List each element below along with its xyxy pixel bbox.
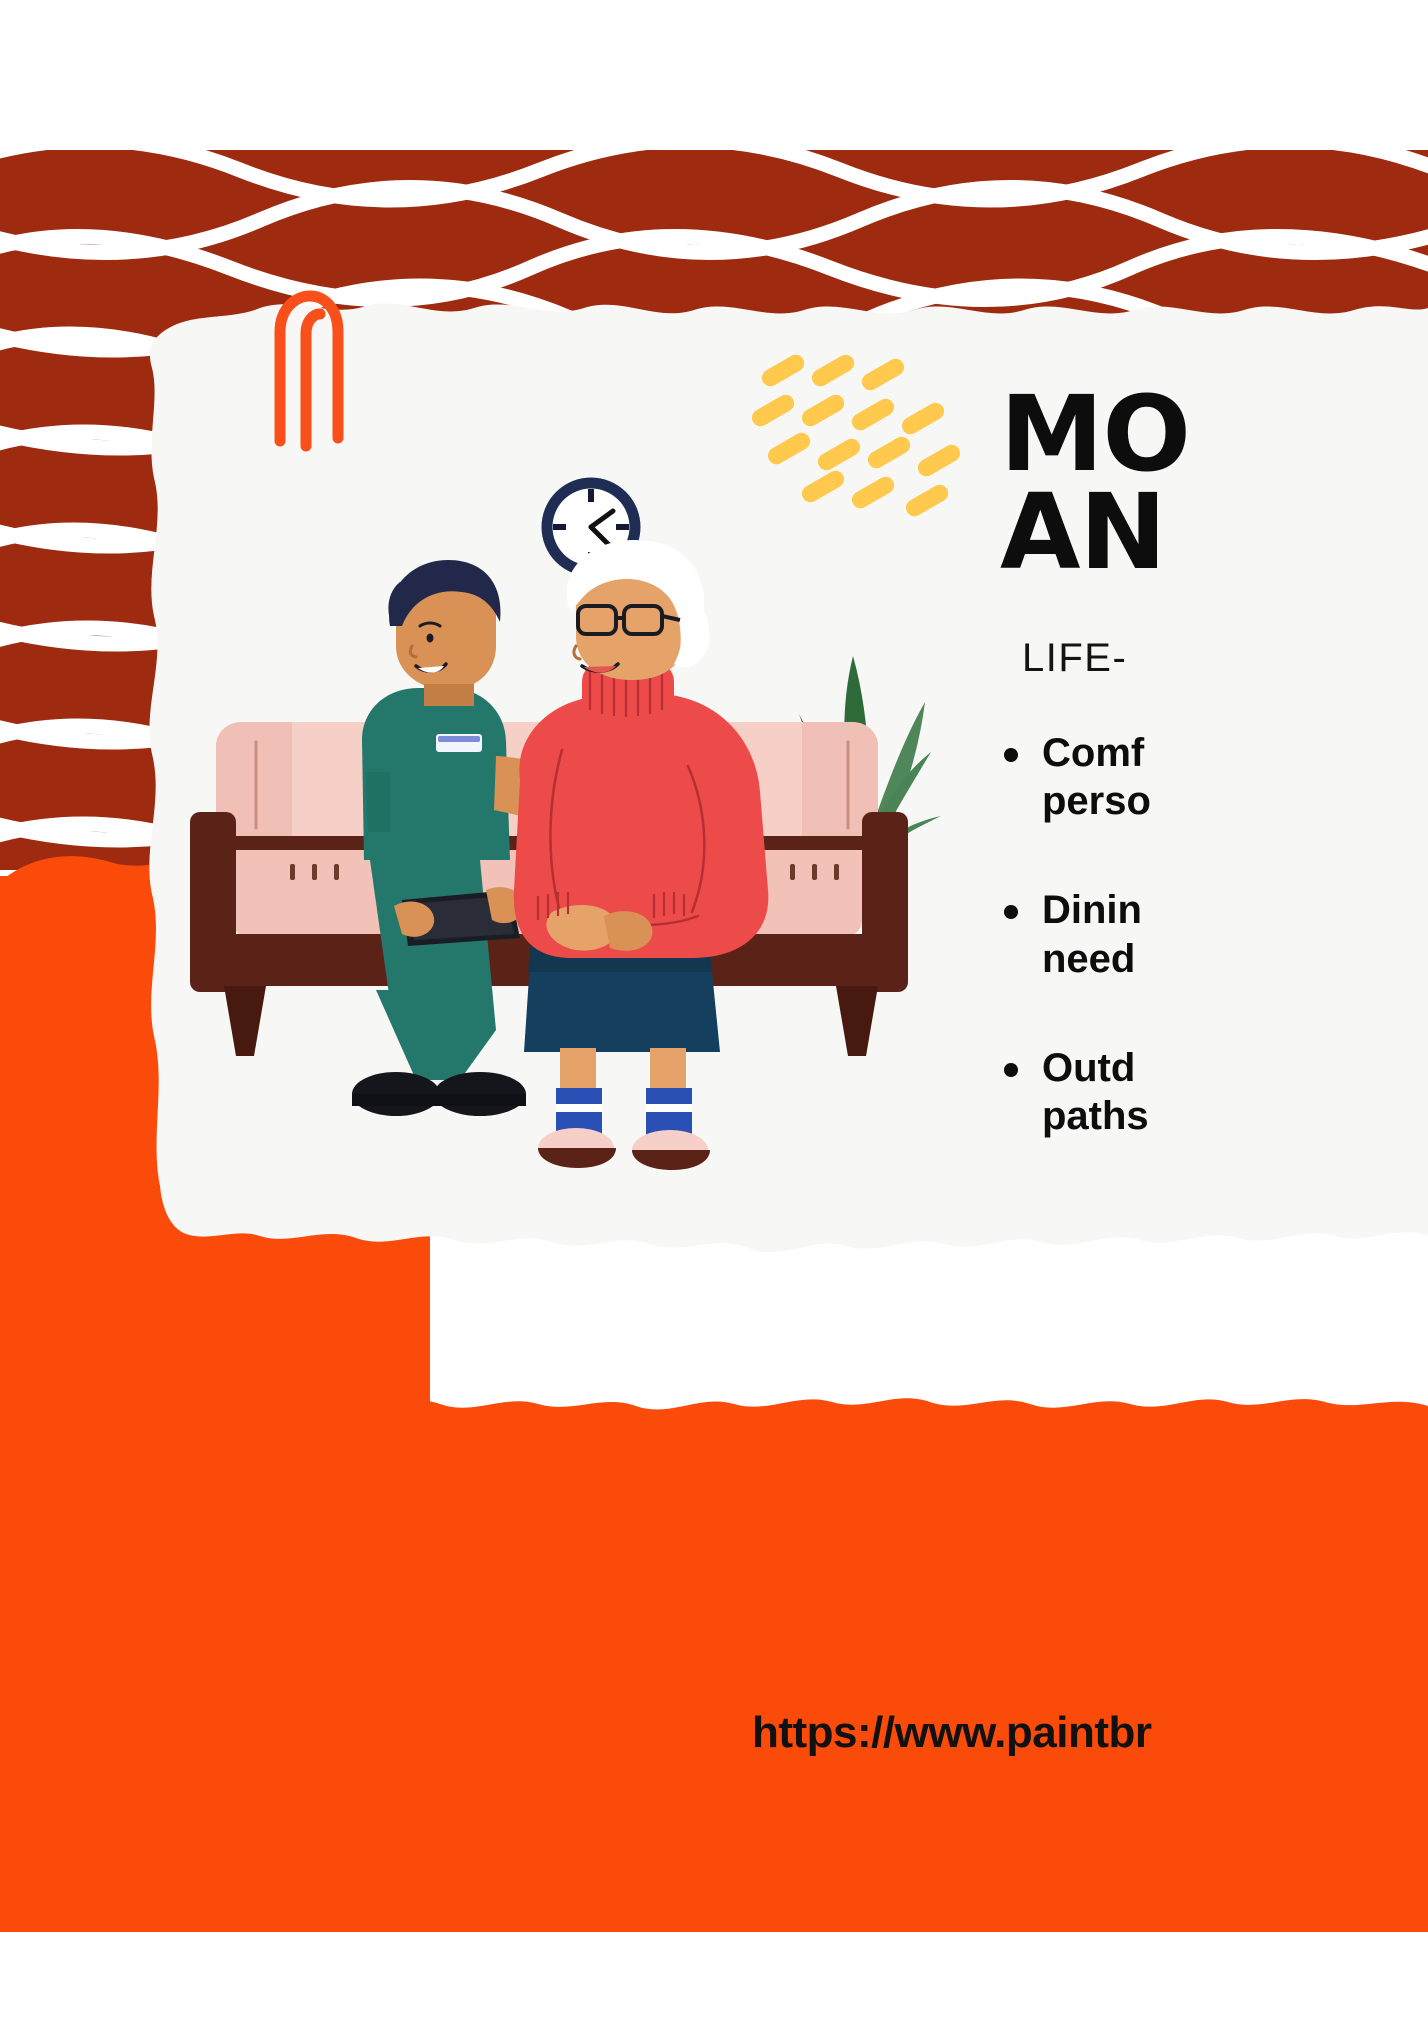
poster-text-column: MO AN LIFE- Comf perso Dinin need Outd p… bbox=[1000, 386, 1428, 1201]
list-item: Outd paths bbox=[1000, 1044, 1428, 1142]
list-item: Comf perso bbox=[1000, 729, 1428, 827]
senior-figure bbox=[514, 540, 769, 1170]
paperclip-icon bbox=[262, 286, 342, 456]
yellow-dash-decoration bbox=[748, 360, 958, 520]
bullet-line-2: perso bbox=[1042, 779, 1151, 823]
bullet-line-1: Dinin bbox=[1042, 888, 1142, 932]
bullet-line-2: paths bbox=[1042, 1094, 1149, 1138]
list-item: Dinin need bbox=[1000, 886, 1428, 984]
website-url[interactable]: https://www.paintbr bbox=[752, 1708, 1152, 1758]
bullet-line-1: Comf bbox=[1042, 731, 1144, 775]
poster-title-line-1: MO bbox=[1000, 386, 1428, 484]
bullet-line-1: Outd bbox=[1042, 1046, 1135, 1090]
caregiver-and-senior-on-sofa bbox=[180, 560, 940, 1180]
feature-bullet-list: Comf perso Dinin need Outd paths bbox=[1000, 729, 1428, 1142]
poster-title-line-2: AN bbox=[1000, 484, 1428, 582]
poster-subtitle: LIFE- bbox=[1022, 636, 1428, 681]
poster-canvas: MO AN LIFE- Comf perso Dinin need Outd p… bbox=[0, 0, 1428, 2018]
bottom-white-margin bbox=[0, 1932, 1428, 2018]
bullet-line-2: need bbox=[1042, 937, 1135, 981]
top-white-margin bbox=[0, 0, 1428, 152]
